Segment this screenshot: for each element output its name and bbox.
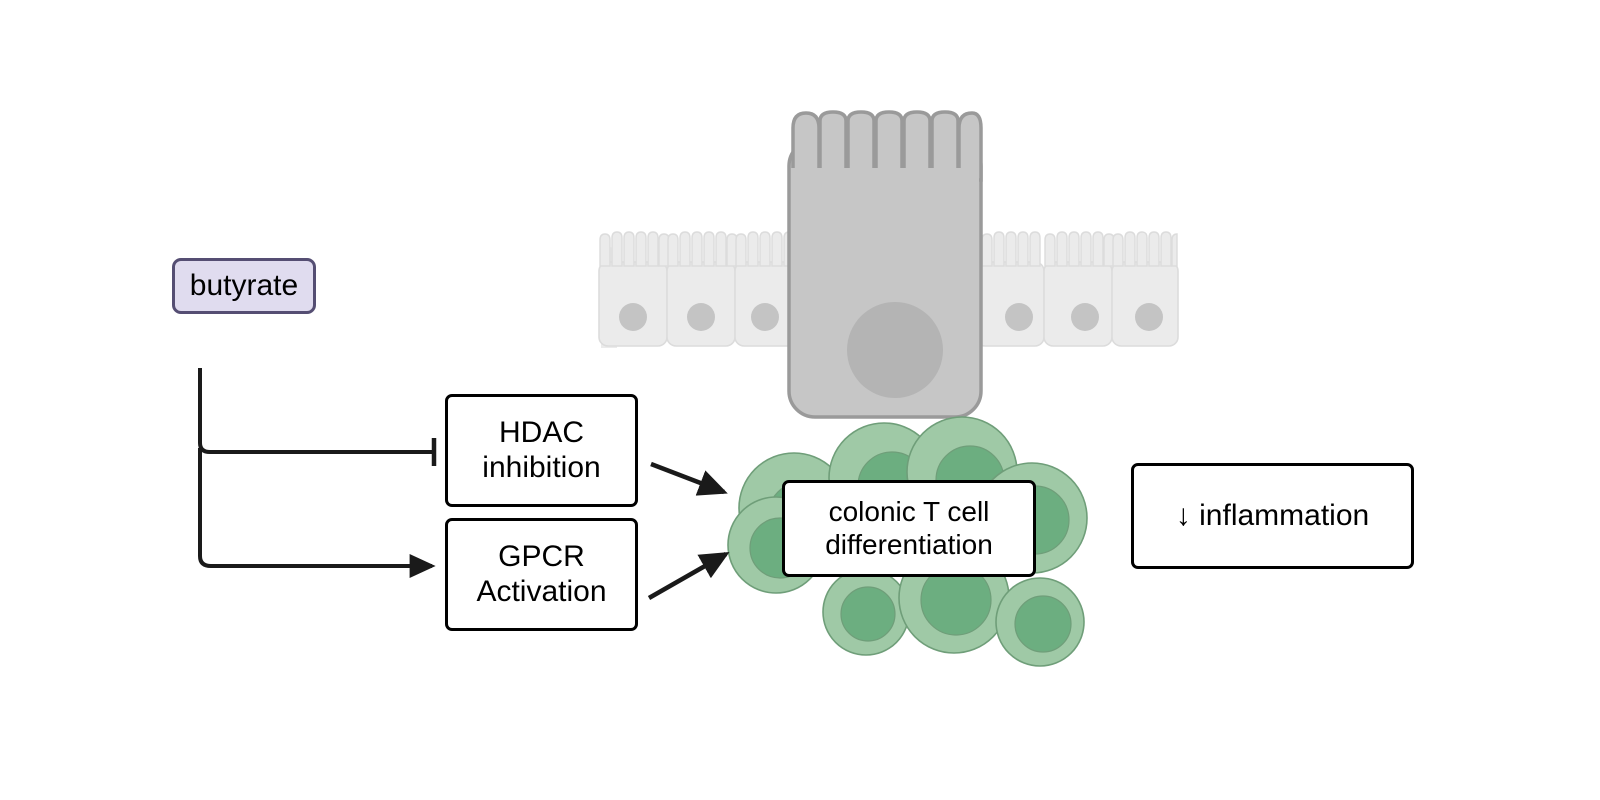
t-cell xyxy=(823,569,909,655)
node-colonic-t-cell-differentiation-label: colonic T cell differentiation xyxy=(825,496,993,560)
connector-hdac-to-tcell xyxy=(651,464,724,492)
epithelial-nucleus xyxy=(1135,303,1163,331)
t-cell xyxy=(996,578,1084,666)
node-hdac-inhibition-label: HDAC inhibition xyxy=(482,416,600,485)
node-gpcr-activation-label: GPCR Activation xyxy=(476,540,606,609)
epithelial-cell-left-1 xyxy=(599,232,669,348)
central-cell-nucleus xyxy=(847,302,943,398)
epithelial-nucleus xyxy=(1005,303,1033,331)
epithelium-group xyxy=(599,112,1178,417)
node-hdac-inhibition[interactable]: HDAC inhibition xyxy=(445,394,638,507)
epithelial-nucleus xyxy=(751,303,779,331)
epithelial-cell-left-2 xyxy=(667,232,737,346)
epithelial-cell-right-2 xyxy=(1044,232,1114,346)
connector-gpcr-to-tcell xyxy=(649,554,726,598)
central-epithelial-cell xyxy=(789,112,981,417)
diagram-canvas: butyrate HDAC inhibition GPCR Activation… xyxy=(0,0,1600,800)
node-butyrate[interactable]: butyrate xyxy=(172,258,316,314)
epithelial-cell-right-1 xyxy=(976,232,1044,346)
diagram-graphics-layer xyxy=(0,0,1600,800)
connector-butyrate-to-hdac-inhibition xyxy=(200,368,434,466)
connector-butyrate-to-gpcr-activation xyxy=(200,448,432,566)
node-inflammation[interactable]: ↓ inflammation xyxy=(1131,463,1414,569)
node-butyrate-label: butyrate xyxy=(190,269,298,304)
node-gpcr-activation[interactable]: GPCR Activation xyxy=(445,518,638,631)
node-inflammation-label: ↓ inflammation xyxy=(1176,499,1369,534)
epithelial-nucleus xyxy=(687,303,715,331)
epithelial-nucleus xyxy=(1071,303,1099,331)
epithelial-nucleus xyxy=(619,303,647,331)
epithelial-cell-right-3 xyxy=(1112,232,1178,346)
node-colonic-t-cell-differentiation[interactable]: colonic T cell differentiation xyxy=(782,480,1036,577)
